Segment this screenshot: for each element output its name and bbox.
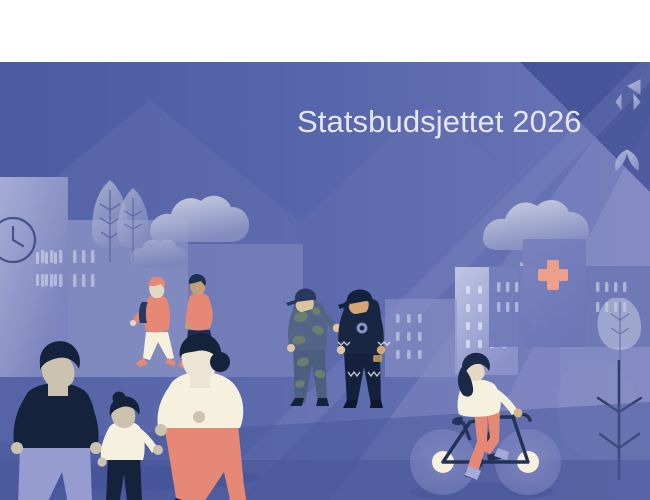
- hero-illustration: [0, 62, 650, 500]
- texture-overlay: [0, 62, 650, 500]
- screenshot-root: Statsbudsjettet 2026: [0, 0, 650, 500]
- hero-illustration-svg: [0, 62, 650, 500]
- top-white-band: [0, 0, 650, 62]
